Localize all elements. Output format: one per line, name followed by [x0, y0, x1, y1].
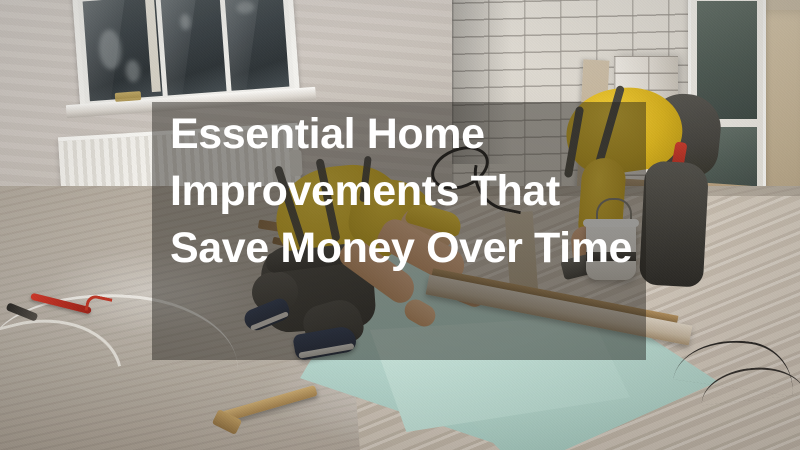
worker-legs: [639, 160, 709, 287]
window-pane: [224, 0, 290, 91]
page-title: Essential Home Improvements That Save Mo…: [170, 106, 640, 277]
sill-object: [115, 91, 142, 102]
hero-banner: Essential Home Improvements That Save Mo…: [0, 0, 800, 450]
window-pane: [160, 0, 226, 95]
headline-scrim: Essential Home Improvements That Save Mo…: [152, 102, 646, 360]
